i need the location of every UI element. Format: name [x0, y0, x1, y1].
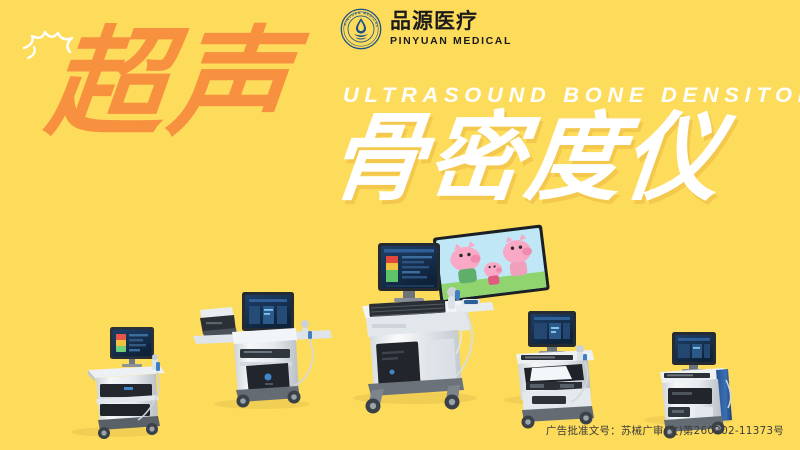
cartoon-figure-1 [448, 240, 483, 284]
headline-chinese-primary: 超声 [42, 24, 298, 142]
machine-3-keyboard [369, 300, 446, 317]
headline-english: ULTRASOUND BONE DENSITOMETER [343, 84, 800, 108]
advertising-approval-number: 广告批准文号：苏械广审(文)第260202-11373号 [546, 423, 784, 438]
poster-canvas: 超声 PINYUAN MEDICAL 品源医疗 PINYUAN MEDICAL [0, 0, 800, 450]
brand-name-en: PINYUAN MEDICAL [390, 36, 512, 47]
circular-seal-icon: PINYUAN MEDICAL [340, 8, 382, 50]
machine-2-printer [200, 307, 237, 337]
machine-2-ultrasound-with-printer [193, 292, 332, 409]
cartoon-figure-2 [483, 261, 504, 286]
brand-text-block: 品源医疗 PINYUAN MEDICAL [390, 11, 512, 47]
machine-2-monitor [242, 292, 294, 338]
headline-chinese-secondary: 骨密度仪 [325, 110, 727, 206]
machine-1-monitor [110, 327, 154, 367]
machine-1-ultrasound-cart [71, 327, 165, 439]
machine-4-console [504, 311, 594, 429]
cartoon-figure-3 [501, 233, 535, 277]
machine-4-monitor [528, 311, 576, 354]
machine-5-monitor [672, 332, 716, 372]
brand-lockup: PINYUAN MEDICAL 品源医疗 PINYUAN MEDICAL [340, 8, 512, 50]
machine-3-flagship-dual-screen [353, 224, 550, 413]
machine-3-cartoon-screen [433, 224, 550, 303]
machine-3-main-monitor [378, 243, 440, 302]
brand-name-cn: 品源医疗 [390, 11, 512, 32]
